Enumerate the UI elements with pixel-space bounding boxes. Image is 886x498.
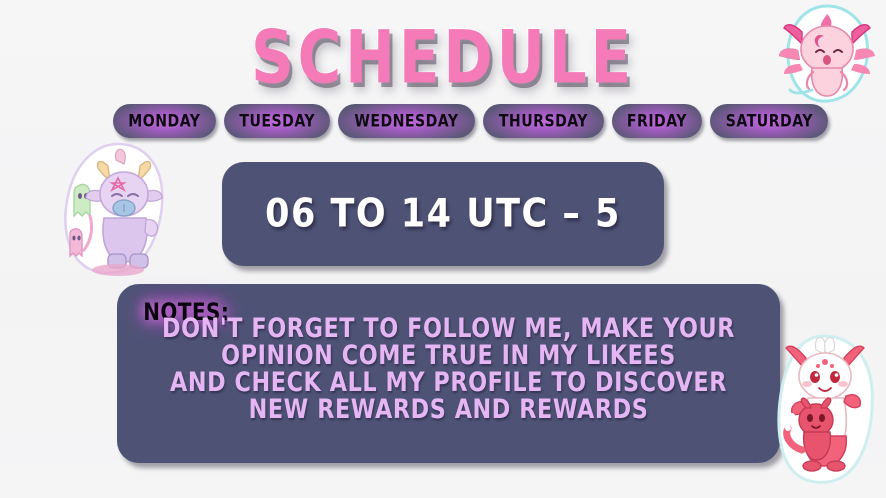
tab-monday-label: MONDAY [128,111,200,131]
pastel-goat-demon-ghost-sticker [56,138,174,280]
notes-line-4: NEW REWARDS AND REWARDS [127,395,770,426]
tab-saturday-label: SATURDAY [725,111,812,131]
tab-thursday-label: THURSDAY [499,111,588,131]
schedule-canvas: SCHEDULE MONDAY TUESDAY WEDNESDAY THURSD… [0,0,886,498]
tab-tuesday[interactable]: TUESDAY [224,104,330,138]
schedule-time-panel: 06 TO 14 UTC – 5 [222,162,664,266]
tab-saturday[interactable]: SATURDAY [710,104,829,138]
tab-friday[interactable]: FRIDAY [612,104,702,138]
tab-thursday[interactable]: THURSDAY [483,104,604,138]
tab-tuesday-label: TUESDAY [239,111,315,131]
pink-demon-axolotl-sticker [772,2,882,106]
page-title: SCHEDULE [18,14,869,100]
day-tabs: MONDAY TUESDAY WEDNESDAY THURSDAY FRIDAY… [113,103,773,139]
notes-body: DON'T FORGET TO FOLLOW ME, MAKE YOUR OPI… [117,316,780,424]
schedule-time-text: 06 TO 14 UTC – 5 [265,192,621,237]
tab-wednesday-label: WEDNESDAY [354,111,458,131]
tab-wednesday[interactable]: WEDNESDAY [338,104,475,138]
white-red-dragon-sticker [772,332,884,494]
tab-friday-label: FRIDAY [627,111,687,131]
notes-panel: NOTES: DON'T FORGET TO FOLLOW ME, MAKE Y… [117,284,780,463]
page-title-text: SCHEDULE [251,14,635,100]
tab-monday[interactable]: MONDAY [113,104,216,138]
